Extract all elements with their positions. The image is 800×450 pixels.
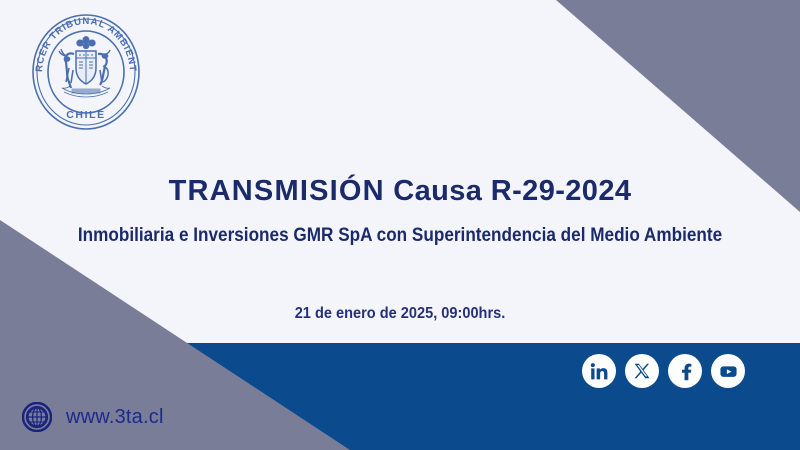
headline-block: TRANSMISIÓN Causa R-29-2024 Inmobiliaria… [0, 176, 800, 246]
title-prefix: TRANSMISIÓN [169, 175, 385, 207]
condor-figure [98, 50, 110, 85]
social-link-youtube[interactable] [711, 354, 745, 388]
slide-canvas: TERCER TRIBUNAL AMBIENTAL CHILE [0, 0, 800, 450]
x-twitter-icon [633, 362, 651, 380]
page-title: TRANSMISIÓN Causa R-29-2024 [0, 176, 800, 208]
linkedin-icon [590, 362, 609, 381]
youtube-icon [719, 362, 738, 381]
hearing-datetime: 21 de enero de 2025, 09:00hrs. [24, 305, 776, 323]
website-url[interactable]: www.3ta.cl [66, 406, 164, 429]
website-footer[interactable]: www.3ta.cl [22, 402, 164, 432]
title-case: Causa R-29-2024 [393, 175, 631, 207]
coat-of-arms-emblem [59, 36, 110, 97]
social-link-facebook[interactable] [668, 354, 702, 388]
huemul-figure [59, 49, 74, 88]
seal-bottom-text: CHILE [66, 109, 106, 121]
globe-icon [22, 402, 52, 432]
case-subtitle: Inmobiliaria e Inversiones GMR SpA con S… [48, 224, 752, 246]
social-link-linkedin[interactable] [582, 354, 616, 388]
facebook-icon [676, 362, 695, 381]
social-link-x[interactable] [625, 354, 659, 388]
tribunal-seal-logo: TERCER TRIBUNAL AMBIENTAL CHILE [26, 10, 146, 134]
social-links [582, 354, 745, 388]
